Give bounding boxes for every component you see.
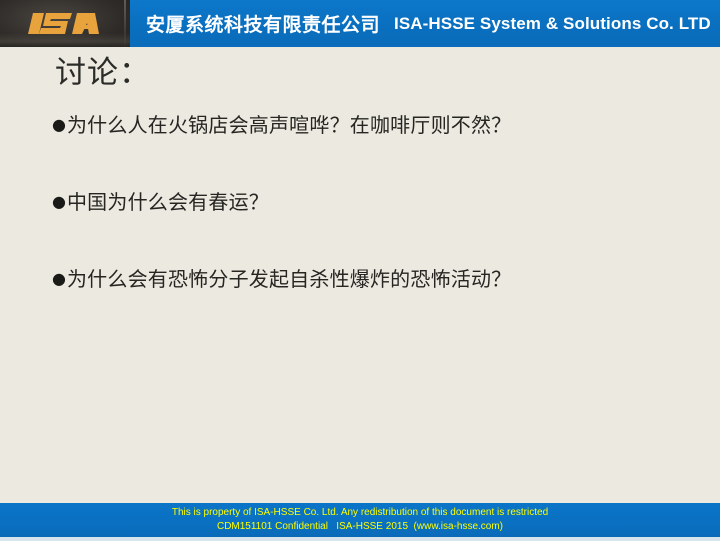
company-title: 安厦系统科技有限责任公司 ISA-HSSE System & Solutions…: [146, 0, 711, 47]
slide-title: 讨论：: [55, 47, 151, 92]
bullet-marker-icon: ●: [52, 190, 66, 213]
bullet-text: 中国为什么会有春运？: [67, 190, 269, 215]
slide-header: 安厦系统科技有限责任公司 ISA-HSSE System & Solutions…: [0, 0, 720, 47]
isa-logo-icon: [27, 9, 103, 38]
footer-document-line: CDM151101 Confidential ISA-HSSE 2015 (ww…: [217, 520, 503, 534]
list-item: ● 为什么会有恐怖分子发起自杀性爆炸的恐怖活动？: [52, 267, 672, 292]
presentation-slide: 安厦系统科技有限责任公司 ISA-HSSE System & Solutions…: [0, 0, 720, 541]
bullet-marker-icon: ●: [52, 113, 66, 136]
logo-panel-divider: [124, 0, 126, 47]
bullet-marker-icon: ●: [52, 267, 66, 290]
logo-panel: [0, 0, 130, 47]
company-title-cn: 安厦系统科技有限责任公司: [146, 10, 380, 37]
footer-copyright-line: This is property of ISA-HSSE Co. Ltd. An…: [172, 506, 548, 520]
bullet-list: ● 为什么人在火锅店会高声喧哗？在咖啡厅则不然？ ● 中国为什么会有春运？ ● …: [52, 113, 672, 344]
list-item: ● 中国为什么会有春运？: [52, 190, 672, 215]
company-title-en: ISA-HSSE System & Solutions Co. LTD: [394, 14, 711, 34]
footer-bottom-strip: [0, 537, 720, 541]
bullet-text: 为什么会有恐怖分子发起自杀性爆炸的恐怖活动？: [67, 267, 511, 292]
list-item: ● 为什么人在火锅店会高声喧哗？在咖啡厅则不然？: [52, 113, 672, 138]
bullet-text: 为什么人在火锅店会高声喧哗？在咖啡厅则不然？: [67, 113, 511, 138]
slide-footer: This is property of ISA-HSSE Co. Ltd. An…: [0, 503, 720, 537]
